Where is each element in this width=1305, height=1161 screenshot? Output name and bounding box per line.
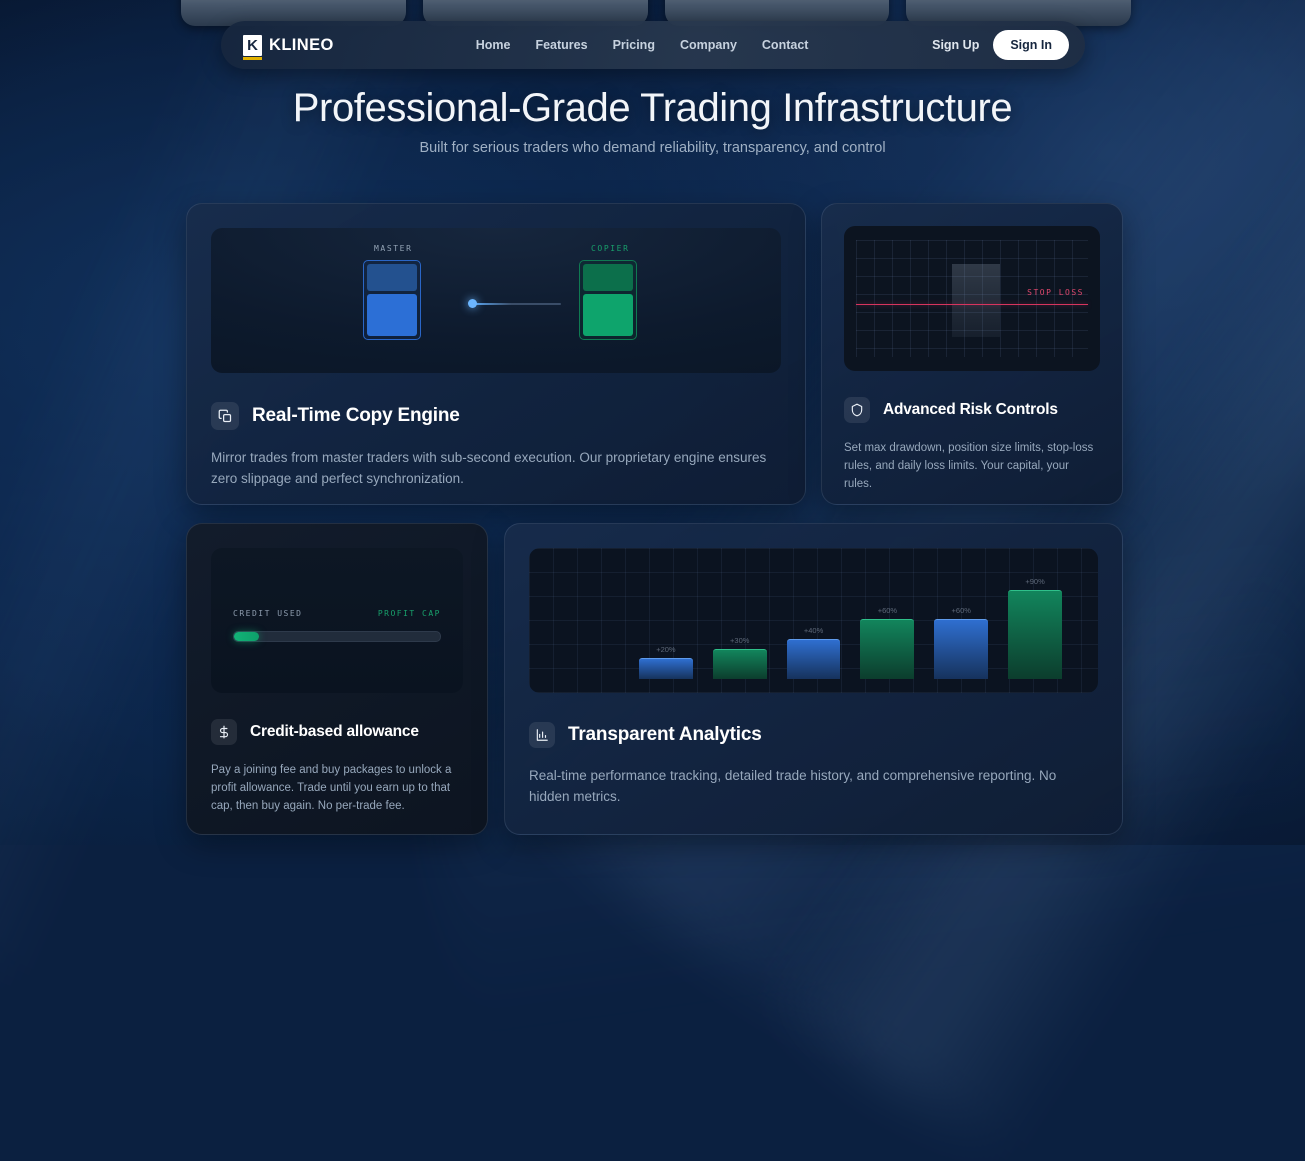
nav-item-company[interactable]: Company [680,38,737,52]
stop-loss-label: STOP LOSS [1027,288,1084,297]
bar-chart: +20%+30%+40%+60%+60%+90% [639,567,1062,679]
nav-links: Home Features Pricing Company Contact [476,38,809,52]
bar [787,639,841,679]
profit-cap-label: PROFIT CAP [378,609,441,618]
bar [860,619,914,679]
bar-group: +20% [639,567,693,679]
brand-name: KLINEO [269,36,334,55]
card-title: Advanced Risk Controls [883,401,1058,419]
klineo-logo-icon: K [243,35,262,56]
dollar-icon [211,719,237,745]
bar-value-label: +40% [804,626,823,635]
card-description: Real-time performance tracking, detailed… [529,765,1092,807]
bar-group: +90% [1008,567,1062,679]
card-title: Real-Time Copy Engine [252,405,460,427]
page-title: Professional-Grade Trading Infrastructur… [0,86,1305,131]
hero-section: Professional-Grade Trading Infrastructur… [0,86,1305,156]
navigation-bar: K KLINEO Home Features Pricing Company C… [221,21,1085,69]
feature-card-credit-allowance[interactable]: CREDIT USED PROFIT CAP Credit-based allo… [186,523,488,835]
credit-progress-fill [234,632,259,641]
credit-progress-track [233,631,441,642]
stop-loss-line [856,304,1088,305]
bar-value-label: +20% [656,645,675,654]
feature-card-risk-controls[interactable]: STOP LOSS Advanced Risk Controls Set max… [821,203,1123,505]
copy-icon [211,402,239,430]
copy-engine-visual: MASTER COPIER [211,228,781,373]
card-description: Pay a joining fee and buy packages to un… [211,761,461,815]
copier-block-top [583,264,633,291]
master-label: MASTER [374,244,413,253]
bar-value-label: +90% [1025,577,1044,586]
copier-block-bottom [583,294,633,336]
credit-labels: CREDIT USED PROFIT CAP [233,609,441,618]
bar-group: +60% [934,567,988,679]
bar-group: +60% [860,567,914,679]
sync-dot-icon [468,299,477,308]
bar [934,619,988,679]
page-subtitle: Built for serious traders who demand rel… [0,140,1305,156]
sync-wire [471,303,561,305]
feature-card-copy-engine[interactable]: MASTER COPIER Real-Time Copy Engine Mirr… [186,203,806,505]
bar-chart-icon [529,722,555,748]
card-header: Transparent Analytics [529,722,1122,748]
card-header: Real-Time Copy Engine [211,402,805,430]
nav-item-contact[interactable]: Contact [762,38,809,52]
master-block-top [367,264,417,291]
bar-value-label: +30% [730,636,749,645]
card-header: Advanced Risk Controls [844,397,1122,423]
master-panel [363,260,421,340]
nav-item-pricing[interactable]: Pricing [613,38,655,52]
feature-card-analytics[interactable]: +20%+30%+40%+60%+60%+90% Transparent Ana… [504,523,1123,835]
bar-value-label: +60% [952,606,971,615]
position-box [952,264,1000,337]
brand-logo[interactable]: K KLINEO [243,35,334,56]
bar [639,658,693,679]
card-title: Transparent Analytics [568,724,762,746]
copier-label: COPIER [591,244,630,253]
sign-in-button[interactable]: Sign In [993,30,1069,60]
risk-visual: STOP LOSS [844,226,1100,371]
shield-icon [844,397,870,423]
card-header: Credit-based allowance [211,719,487,745]
bar-value-label: +60% [878,606,897,615]
sign-up-link[interactable]: Sign Up [932,38,979,52]
card-description: Mirror trades from master traders with s… [211,447,775,489]
card-title: Credit-based allowance [250,723,419,741]
card-description: Set max drawdown, position size limits, … [844,439,1100,493]
bar-group: +30% [713,567,767,679]
analytics-visual: +20%+30%+40%+60%+60%+90% [529,548,1098,693]
nav-item-features[interactable]: Features [535,38,587,52]
credit-used-label: CREDIT USED [233,609,302,618]
bar-group: +40% [787,567,841,679]
bar [713,649,767,679]
nav-actions: Sign Up Sign In [932,30,1069,60]
copier-panel [579,260,637,340]
master-block-bottom [367,294,417,336]
credit-visual: CREDIT USED PROFIT CAP [211,548,463,693]
nav-item-home[interactable]: Home [476,38,511,52]
bar [1008,590,1062,679]
